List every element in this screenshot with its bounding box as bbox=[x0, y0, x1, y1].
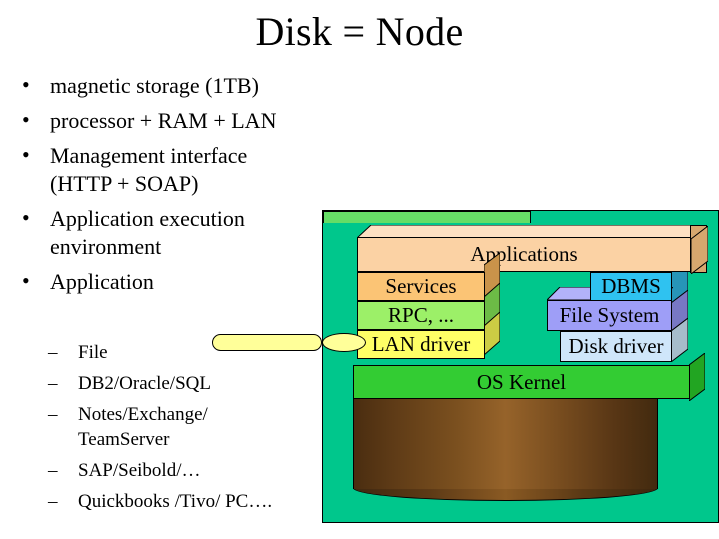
block-services: Services bbox=[357, 272, 485, 301]
sub-list-item-line1: DB2/Oracle/SQL bbox=[78, 373, 211, 394]
list-item: • processor + RAM + LAN bbox=[18, 107, 348, 135]
sub-list-item-line1: Quickbooks /Tivo/ PC…. bbox=[78, 491, 272, 512]
list-item-line1: processor + RAM + LAN bbox=[50, 107, 348, 135]
dash-marker-icon: – bbox=[48, 489, 58, 514]
list-item-line2: environment bbox=[50, 233, 348, 261]
block-rpc: RPC, ... bbox=[357, 301, 485, 330]
applications-side-face bbox=[690, 225, 707, 273]
block-dbms: DBMS bbox=[590, 272, 672, 301]
list-item: • Application execution environment bbox=[18, 205, 348, 261]
sub-list-item-line1: Notes/Exchange/ bbox=[78, 404, 208, 425]
dash-marker-icon: – bbox=[48, 402, 58, 427]
os-kernel-side-face bbox=[689, 353, 705, 401]
bullet-marker-icon: • bbox=[22, 71, 30, 99]
architecture-diagram: OS Kernel LAN driver RPC, ... Services D… bbox=[322, 210, 719, 523]
bullet-marker-icon: • bbox=[22, 204, 30, 232]
sub-list-item-line2: TeamServer bbox=[78, 427, 348, 452]
sub-bullet-list: – File – DB2/Oracle/SQL – Notes/Exchange… bbox=[48, 340, 348, 520]
bullet-marker-icon: • bbox=[22, 106, 30, 134]
sub-list-item: – SAP/Seibold/… bbox=[48, 458, 348, 483]
page-title: Disk = Node bbox=[0, 8, 719, 56]
bullet-marker-icon: • bbox=[22, 267, 30, 295]
block-applications: Applications bbox=[357, 237, 691, 272]
lan-connector-ellipse bbox=[322, 333, 366, 352]
sub-list-item: – DB2/Oracle/SQL bbox=[48, 371, 348, 396]
list-item-line1: Management interface bbox=[50, 142, 348, 170]
list-item: • Application bbox=[18, 268, 348, 296]
list-item: • Management interface (HTTP + SOAP) bbox=[18, 142, 348, 198]
dash-marker-icon: – bbox=[48, 458, 58, 483]
block-lan-driver: LAN driver bbox=[357, 330, 485, 359]
list-item-line2: (HTTP + SOAP) bbox=[50, 170, 348, 198]
dash-marker-icon: – bbox=[48, 340, 58, 365]
list-item: • magnetic storage (1TB) bbox=[18, 72, 348, 100]
dash-marker-icon: – bbox=[48, 371, 58, 396]
block-os-kernel: OS Kernel bbox=[353, 365, 690, 399]
sub-list-item: – Quickbooks /Tivo/ PC…. bbox=[48, 489, 348, 514]
sub-list-item: – Notes/Exchange/ TeamServer bbox=[48, 402, 348, 452]
list-item-line1: Application execution bbox=[50, 205, 348, 233]
services-side-face bbox=[484, 253, 500, 297]
os-kernel-top-face bbox=[323, 211, 531, 223]
sub-list-item-line1: File bbox=[78, 342, 108, 363]
bullet-marker-icon: • bbox=[22, 141, 30, 169]
bullet-list: • magnetic storage (1TB) • processor + R… bbox=[18, 72, 348, 303]
list-item-line1: magnetic storage (1TB) bbox=[50, 72, 348, 100]
block-file-system: File System bbox=[547, 300, 672, 331]
block-disk-driver: Disk driver bbox=[560, 331, 672, 362]
list-item-line1: Application bbox=[50, 268, 348, 296]
sub-list-item-line1: SAP/Seibold/… bbox=[78, 460, 200, 481]
lan-cable bbox=[212, 334, 322, 351]
